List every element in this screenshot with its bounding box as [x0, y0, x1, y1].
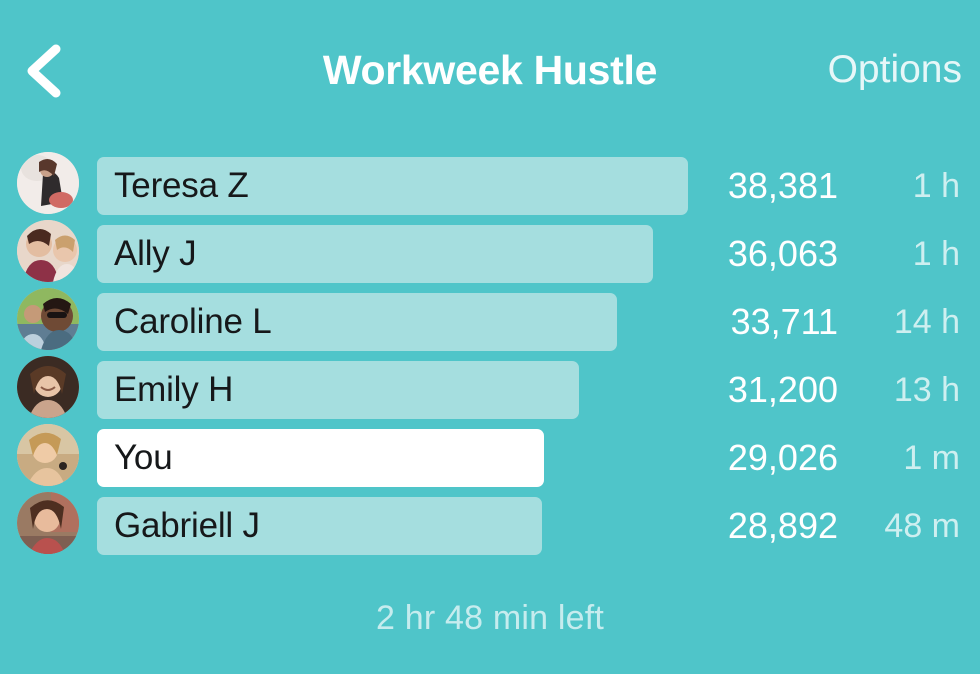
last-sync-time: 14 h	[844, 293, 960, 351]
participant-name: Emily H	[97, 361, 233, 419]
step-count: 31,200	[608, 361, 838, 419]
step-count: 28,892	[608, 497, 838, 555]
app-header: Workweek Hustle Options	[0, 0, 980, 132]
leaderboard-row-me[interactable]: You 29,026 1 m	[0, 422, 980, 490]
participant-name: Gabriell J	[97, 497, 260, 555]
progress-bar: Gabriell J	[97, 497, 542, 555]
progress-bar: Emily H	[97, 361, 579, 419]
avatar[interactable]	[17, 152, 79, 214]
avatar[interactable]	[17, 288, 79, 350]
options-button[interactable]: Options	[828, 42, 962, 98]
leaderboard-row[interactable]: Caroline L 33,711 14 h	[0, 286, 980, 354]
leaderboard-screen: Workweek Hustle Options Teresa Z 38,381 …	[0, 0, 980, 674]
progress-bar: You	[97, 429, 544, 487]
avatar[interactable]	[17, 220, 79, 282]
progress-bar: Ally J	[97, 225, 653, 283]
last-sync-time: 1 h	[844, 157, 960, 215]
last-sync-time: 1 m	[844, 429, 960, 487]
time-remaining-label: 2 hr 48 min left	[0, 592, 980, 644]
step-count: 38,381	[608, 157, 838, 215]
step-count: 29,026	[608, 429, 838, 487]
leaderboard-row[interactable]: Gabriell J 28,892 48 m	[0, 490, 980, 558]
leaderboard-row[interactable]: Teresa Z 38,381 1 h	[0, 150, 980, 218]
participant-name: Caroline L	[97, 293, 272, 351]
last-sync-time: 1 h	[844, 225, 960, 283]
avatar[interactable]	[17, 424, 79, 486]
last-sync-time: 13 h	[844, 361, 960, 419]
progress-bar: Caroline L	[97, 293, 617, 351]
leaderboard-row[interactable]: Emily H 31,200 13 h	[0, 354, 980, 422]
avatar[interactable]	[17, 356, 79, 418]
leaderboard-list: Teresa Z 38,381 1 h Ally J 3	[0, 150, 980, 558]
leaderboard-row[interactable]: Ally J 36,063 1 h	[0, 218, 980, 286]
progress-bar: Teresa Z	[97, 157, 688, 215]
page-title: Workweek Hustle	[160, 42, 820, 98]
step-count: 33,711	[608, 293, 838, 351]
last-sync-time: 48 m	[844, 497, 960, 555]
step-count: 36,063	[608, 225, 838, 283]
participant-name: Ally J	[97, 225, 196, 283]
back-button[interactable]	[14, 40, 76, 102]
chevron-left-icon	[24, 43, 66, 99]
participant-name: You	[97, 429, 172, 487]
participant-name: Teresa Z	[97, 157, 249, 215]
avatar[interactable]	[17, 492, 79, 554]
